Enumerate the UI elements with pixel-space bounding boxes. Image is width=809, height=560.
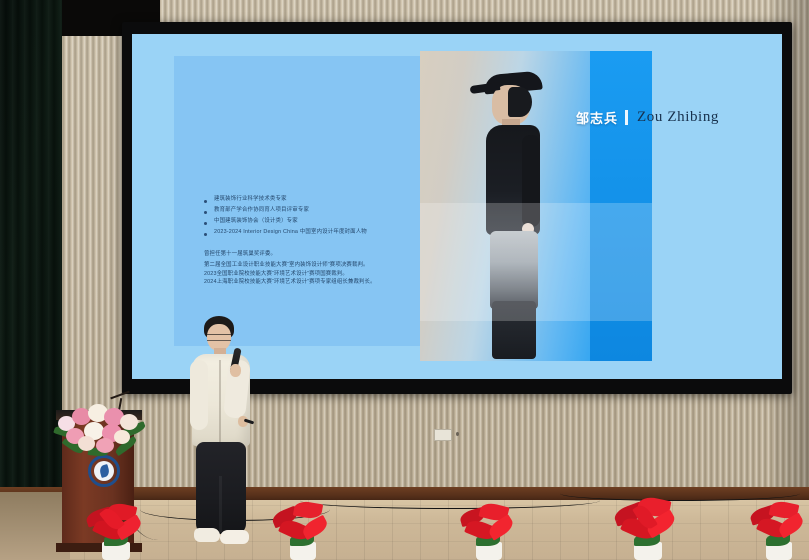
presenter-figure bbox=[186, 316, 256, 560]
slide-name-chinese: 邹志兵 bbox=[576, 108, 618, 127]
slide-paragraph-block: 曾担任第十一届筑巢奖评委。 第二届全国工业设计职业技能大赛“室内装饰设计师”赛项… bbox=[204, 250, 534, 287]
paragraph-line: 2024上海职业院校技能大赛“环境艺术设计”赛项专家组组长兼裁判长。 bbox=[204, 278, 534, 287]
wall-screw bbox=[456, 432, 459, 436]
presenter-left-shoe bbox=[194, 528, 220, 542]
slide-name-block: 邹志兵 Zou Zhibing bbox=[576, 108, 719, 127]
poinsettia-plant bbox=[458, 500, 522, 560]
bullet-dot-icon bbox=[204, 233, 207, 236]
podium-flower-arrangement bbox=[52, 398, 152, 460]
name-divider bbox=[625, 110, 628, 125]
poinsettia-plant bbox=[750, 498, 809, 560]
bullet-dot-icon bbox=[204, 200, 207, 203]
paragraph-line: 曾担任第十一届筑巢奖评委。 bbox=[204, 250, 534, 259]
list-item: 中国建筑装饰协会（设计类）专家 bbox=[204, 218, 504, 225]
floor-cable bbox=[300, 492, 600, 509]
slide-bullet-list: 建筑装饰行业科学技术类专家 教育部产学合作协同育人项目评审专家 中国建筑装饰协会… bbox=[204, 196, 504, 240]
slide-name-english: Zou Zhibing bbox=[637, 109, 719, 126]
figure-hair bbox=[508, 87, 532, 117]
presenter-right-shoe bbox=[220, 530, 249, 544]
bullet-dot-icon bbox=[204, 222, 207, 225]
list-item: 建筑装饰行业科学技术类专家 bbox=[204, 196, 504, 203]
bullet-text: 中国建筑装饰协会（设计类）专家 bbox=[214, 218, 298, 225]
poinsettia-plant bbox=[612, 496, 684, 560]
presenter-hand-holding-mic bbox=[230, 364, 241, 377]
bullet-text: 教育部产学合作协同育人项目评审专家 bbox=[214, 207, 309, 214]
wall-outlet-plate bbox=[434, 429, 452, 441]
bullet-dot-icon bbox=[204, 211, 207, 214]
presenter-shirt-placket bbox=[219, 360, 221, 444]
poinsettia-plant bbox=[82, 500, 152, 560]
bullet-text: 2023-2024 Interior Design China 中国室内设计年度… bbox=[214, 229, 367, 236]
presentation-photo-scene: 邹志兵 Zou Zhibing 建筑装饰行业科学技术类专家 教育部产学合作协同育… bbox=[0, 0, 809, 560]
presenter-pants-fold bbox=[219, 476, 222, 532]
paragraph-line: 第二届全国工业设计职业技能大赛“室内装饰设计师”赛项决赛裁判。 bbox=[204, 261, 534, 270]
list-item: 教育部产学合作协同育人项目评审专家 bbox=[204, 207, 504, 214]
glasses-icon bbox=[207, 334, 231, 341]
poinsettia-plant bbox=[270, 498, 336, 560]
paragraph-line: 2023全国职业院校技能大赛“环境艺术设计”赛项国赛裁判。 bbox=[204, 270, 534, 279]
presenter-left-arm bbox=[190, 360, 208, 430]
bullet-text: 建筑装饰行业科学技术类专家 bbox=[214, 196, 287, 203]
list-item: 2023-2024 Interior Design China 中国室内设计年度… bbox=[204, 229, 504, 236]
